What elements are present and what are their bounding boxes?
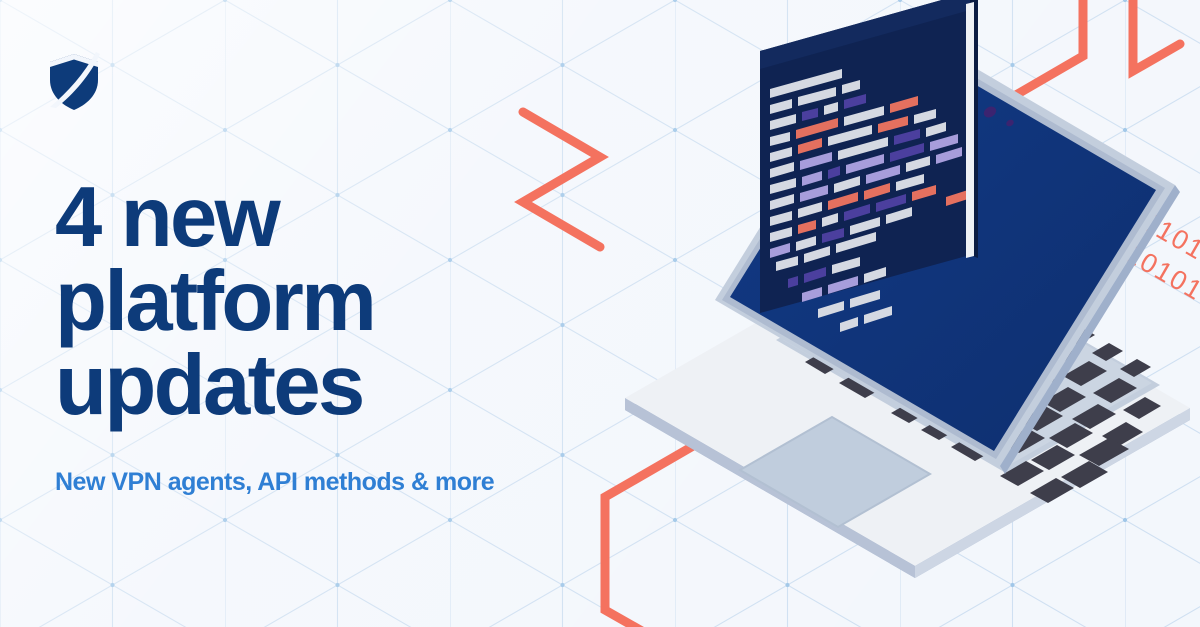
- coral-bracket-top-right: [1009, 0, 1083, 99]
- laptop-base: [625, 240, 1190, 578]
- binary-row: 010101010101010101: [870, 172, 1139, 420]
- hero-text-block: 4 new platform updates New VPN agents, A…: [55, 176, 615, 497]
- binary-row: 010101010010101010101010101: [870, 49, 1200, 310]
- binary-row: 1010101010: [870, 296, 1068, 420]
- isometric-laptop-illustration: [600, 0, 1200, 627]
- promo-banner: 01011010100101010101010101 0101010100101…: [0, 0, 1200, 627]
- code-editor-window: [760, 0, 978, 332]
- code-lines: [770, 69, 968, 332]
- binary-row: 0101101010101010101010: [870, 80, 1192, 341]
- coral-bracket-top-right-2: [1133, 0, 1180, 71]
- binary-row: 101010: [870, 357, 1032, 420]
- shield-swoosh-icon[interactable]: [48, 50, 100, 112]
- binary-rows: 01011010100101010101010101 0101010100101…: [870, 18, 1200, 420]
- binary-row: 10101010: [870, 327, 1050, 420]
- page-title: 4 new platform updates: [55, 176, 615, 428]
- page-subtitle: New VPN agents, API methods & more: [55, 428, 615, 497]
- laptop-lid: [715, 18, 1180, 474]
- binary-digits-decoration: 01011010100101010101010101 0101010100101…: [870, 0, 1200, 420]
- binary-row: 01010101010101010101: [870, 111, 1174, 372]
- binary-row: 0110101010101010101: [870, 141, 1157, 402]
- laptop-trackpad: [740, 417, 930, 527]
- binary-row: 1010101010101010: [870, 203, 1121, 420]
- binary-row: 101010101010: [870, 265, 1085, 420]
- coral-hex-path-bottom: [605, 420, 738, 627]
- laptop-keyboard-tray: [776, 252, 1160, 473]
- binary-row: 10101010101010: [870, 234, 1103, 420]
- binary-row: 01011010100101010101010101: [870, 18, 1200, 279]
- binary-row: 1010: [870, 388, 1014, 420]
- laptop-keyboard-keys: [805, 247, 1161, 503]
- laptop-webcam: [982, 104, 1015, 127]
